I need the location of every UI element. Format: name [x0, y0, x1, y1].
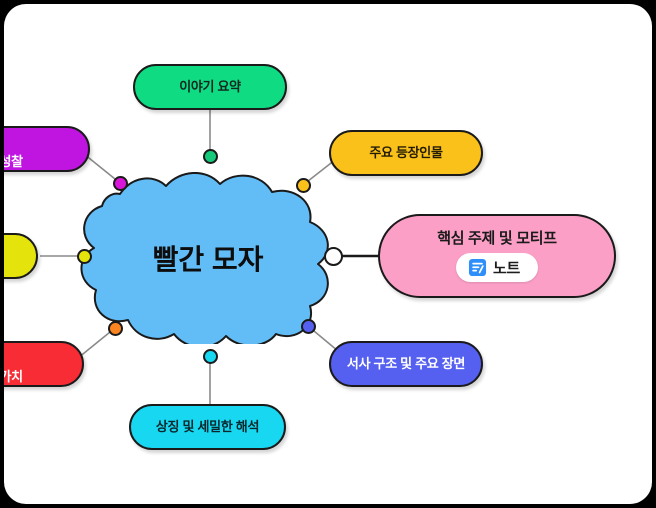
note-badge[interactable]: 노트 — [456, 253, 538, 282]
connector-dot-core-themes-selected[interactable] — [324, 247, 343, 266]
node-narrative-structure[interactable]: 서사 구조 및 주요 장면 — [329, 341, 483, 387]
connector-dot-symbolism[interactable] — [203, 349, 218, 364]
node-personal-reflection-label: 개인적 성찰 — [4, 154, 23, 170]
mindmap-canvas[interactable]: 빨간 모자 이야기 요약 주요 등장인물 핵심 주제 및 모티프 — [4, 4, 652, 504]
note-document-icon — [468, 258, 487, 277]
node-educational-value-label: 교육적 가치 — [4, 369, 23, 385]
node-symbolism-label: 상징 및 세밀한 해석 — [156, 419, 259, 435]
connector-dot-unlabeled-yellow[interactable] — [77, 249, 92, 264]
mindmap-app: 빨간 모자 이야기 요약 주요 등장인물 핵심 주제 및 모티프 — [0, 0, 656, 508]
node-symbolism[interactable]: 상징 및 세밀한 해석 — [129, 404, 286, 450]
node-unlabeled-yellow[interactable] — [4, 233, 38, 279]
node-story-summary-label: 이야기 요약 — [179, 79, 241, 95]
node-core-themes[interactable]: 핵심 주제 및 모티프 노트 — [378, 214, 616, 298]
node-core-themes-label: 핵심 주제 및 모티프 — [437, 230, 557, 248]
node-personal-reflection[interactable]: 개인적 성찰 — [4, 126, 90, 172]
connector-dot-narrative-structure[interactable] — [301, 319, 316, 334]
node-story-summary[interactable]: 이야기 요약 — [133, 64, 287, 110]
central-node-label: 빨간 모자 — [153, 238, 264, 278]
connector-dot-story-summary[interactable] — [203, 149, 218, 164]
node-educational-value[interactable]: 교육적 가치 — [4, 341, 84, 387]
connector-dot-personal-reflection[interactable] — [113, 176, 128, 191]
node-main-characters-label: 주요 등장인물 — [369, 145, 442, 161]
connector-dot-main-characters[interactable] — [296, 178, 311, 193]
node-main-characters[interactable]: 주요 등장인물 — [329, 130, 483, 176]
note-badge-label: 노트 — [493, 257, 520, 278]
node-narrative-structure-label: 서사 구조 및 주요 장면 — [347, 356, 465, 372]
central-node[interactable]: 빨간 모자 — [80, 172, 336, 344]
connector-dot-educational-value[interactable] — [108, 321, 123, 336]
